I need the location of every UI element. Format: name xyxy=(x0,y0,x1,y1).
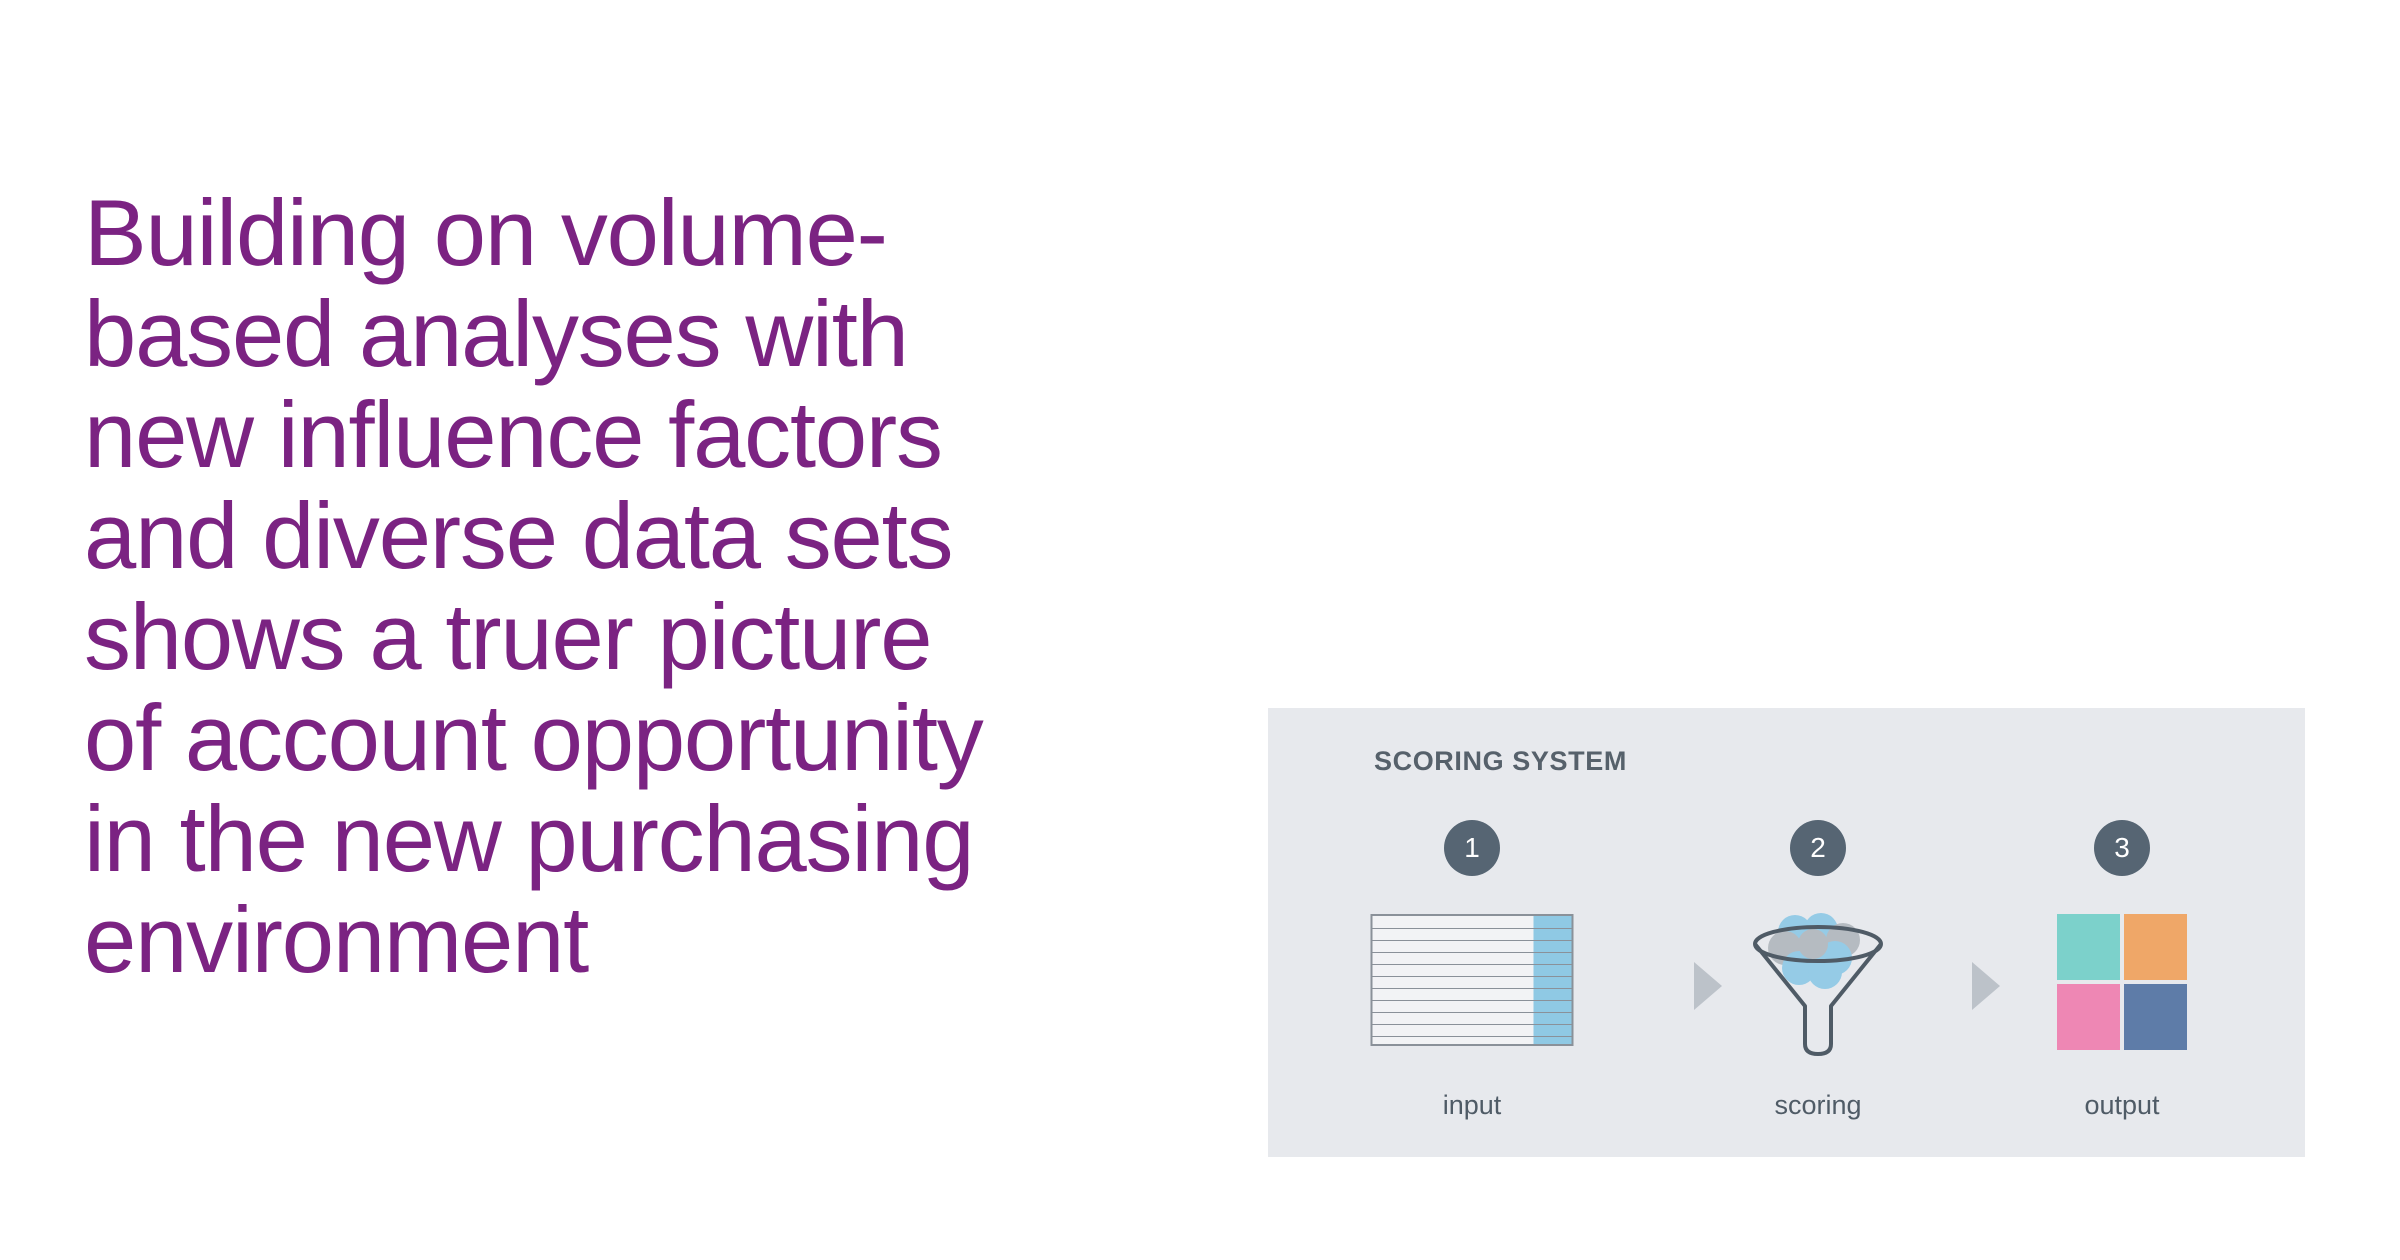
step-badge-2: 2 xyxy=(1790,820,1846,876)
output-block-orange xyxy=(2124,914,2187,980)
page-title: Building on volume- based analyses with … xyxy=(84,182,1204,990)
stage-output: 3 output xyxy=(2012,820,2232,1120)
scoring-system-panel: SCORING SYSTEM 1 input 2 xyxy=(1268,708,2305,1157)
table-icon xyxy=(1371,914,1574,1046)
play-triangle-icon xyxy=(1972,962,2000,1010)
grid-blocks-icon xyxy=(2057,914,2187,1050)
stage-label-output: output xyxy=(2012,1090,2232,1121)
stage-scoring: 2 scoring xyxy=(1708,820,1928,1120)
play-triangle-icon xyxy=(1694,962,1722,1010)
step-badge-3: 3 xyxy=(2094,820,2150,876)
output-block-blue xyxy=(2124,984,2187,1050)
output-block-teal xyxy=(2057,914,2120,980)
panel-title: SCORING SYSTEM xyxy=(1374,746,1627,777)
step-badge-1: 1 xyxy=(1444,820,1500,876)
stage-label-input: input xyxy=(1362,1090,1582,1121)
output-block-pink xyxy=(2057,984,2120,1050)
funnel-icon xyxy=(1743,902,1893,1062)
stage-input: 1 input xyxy=(1362,820,1582,1120)
stage-label-scoring: scoring xyxy=(1708,1090,1928,1121)
